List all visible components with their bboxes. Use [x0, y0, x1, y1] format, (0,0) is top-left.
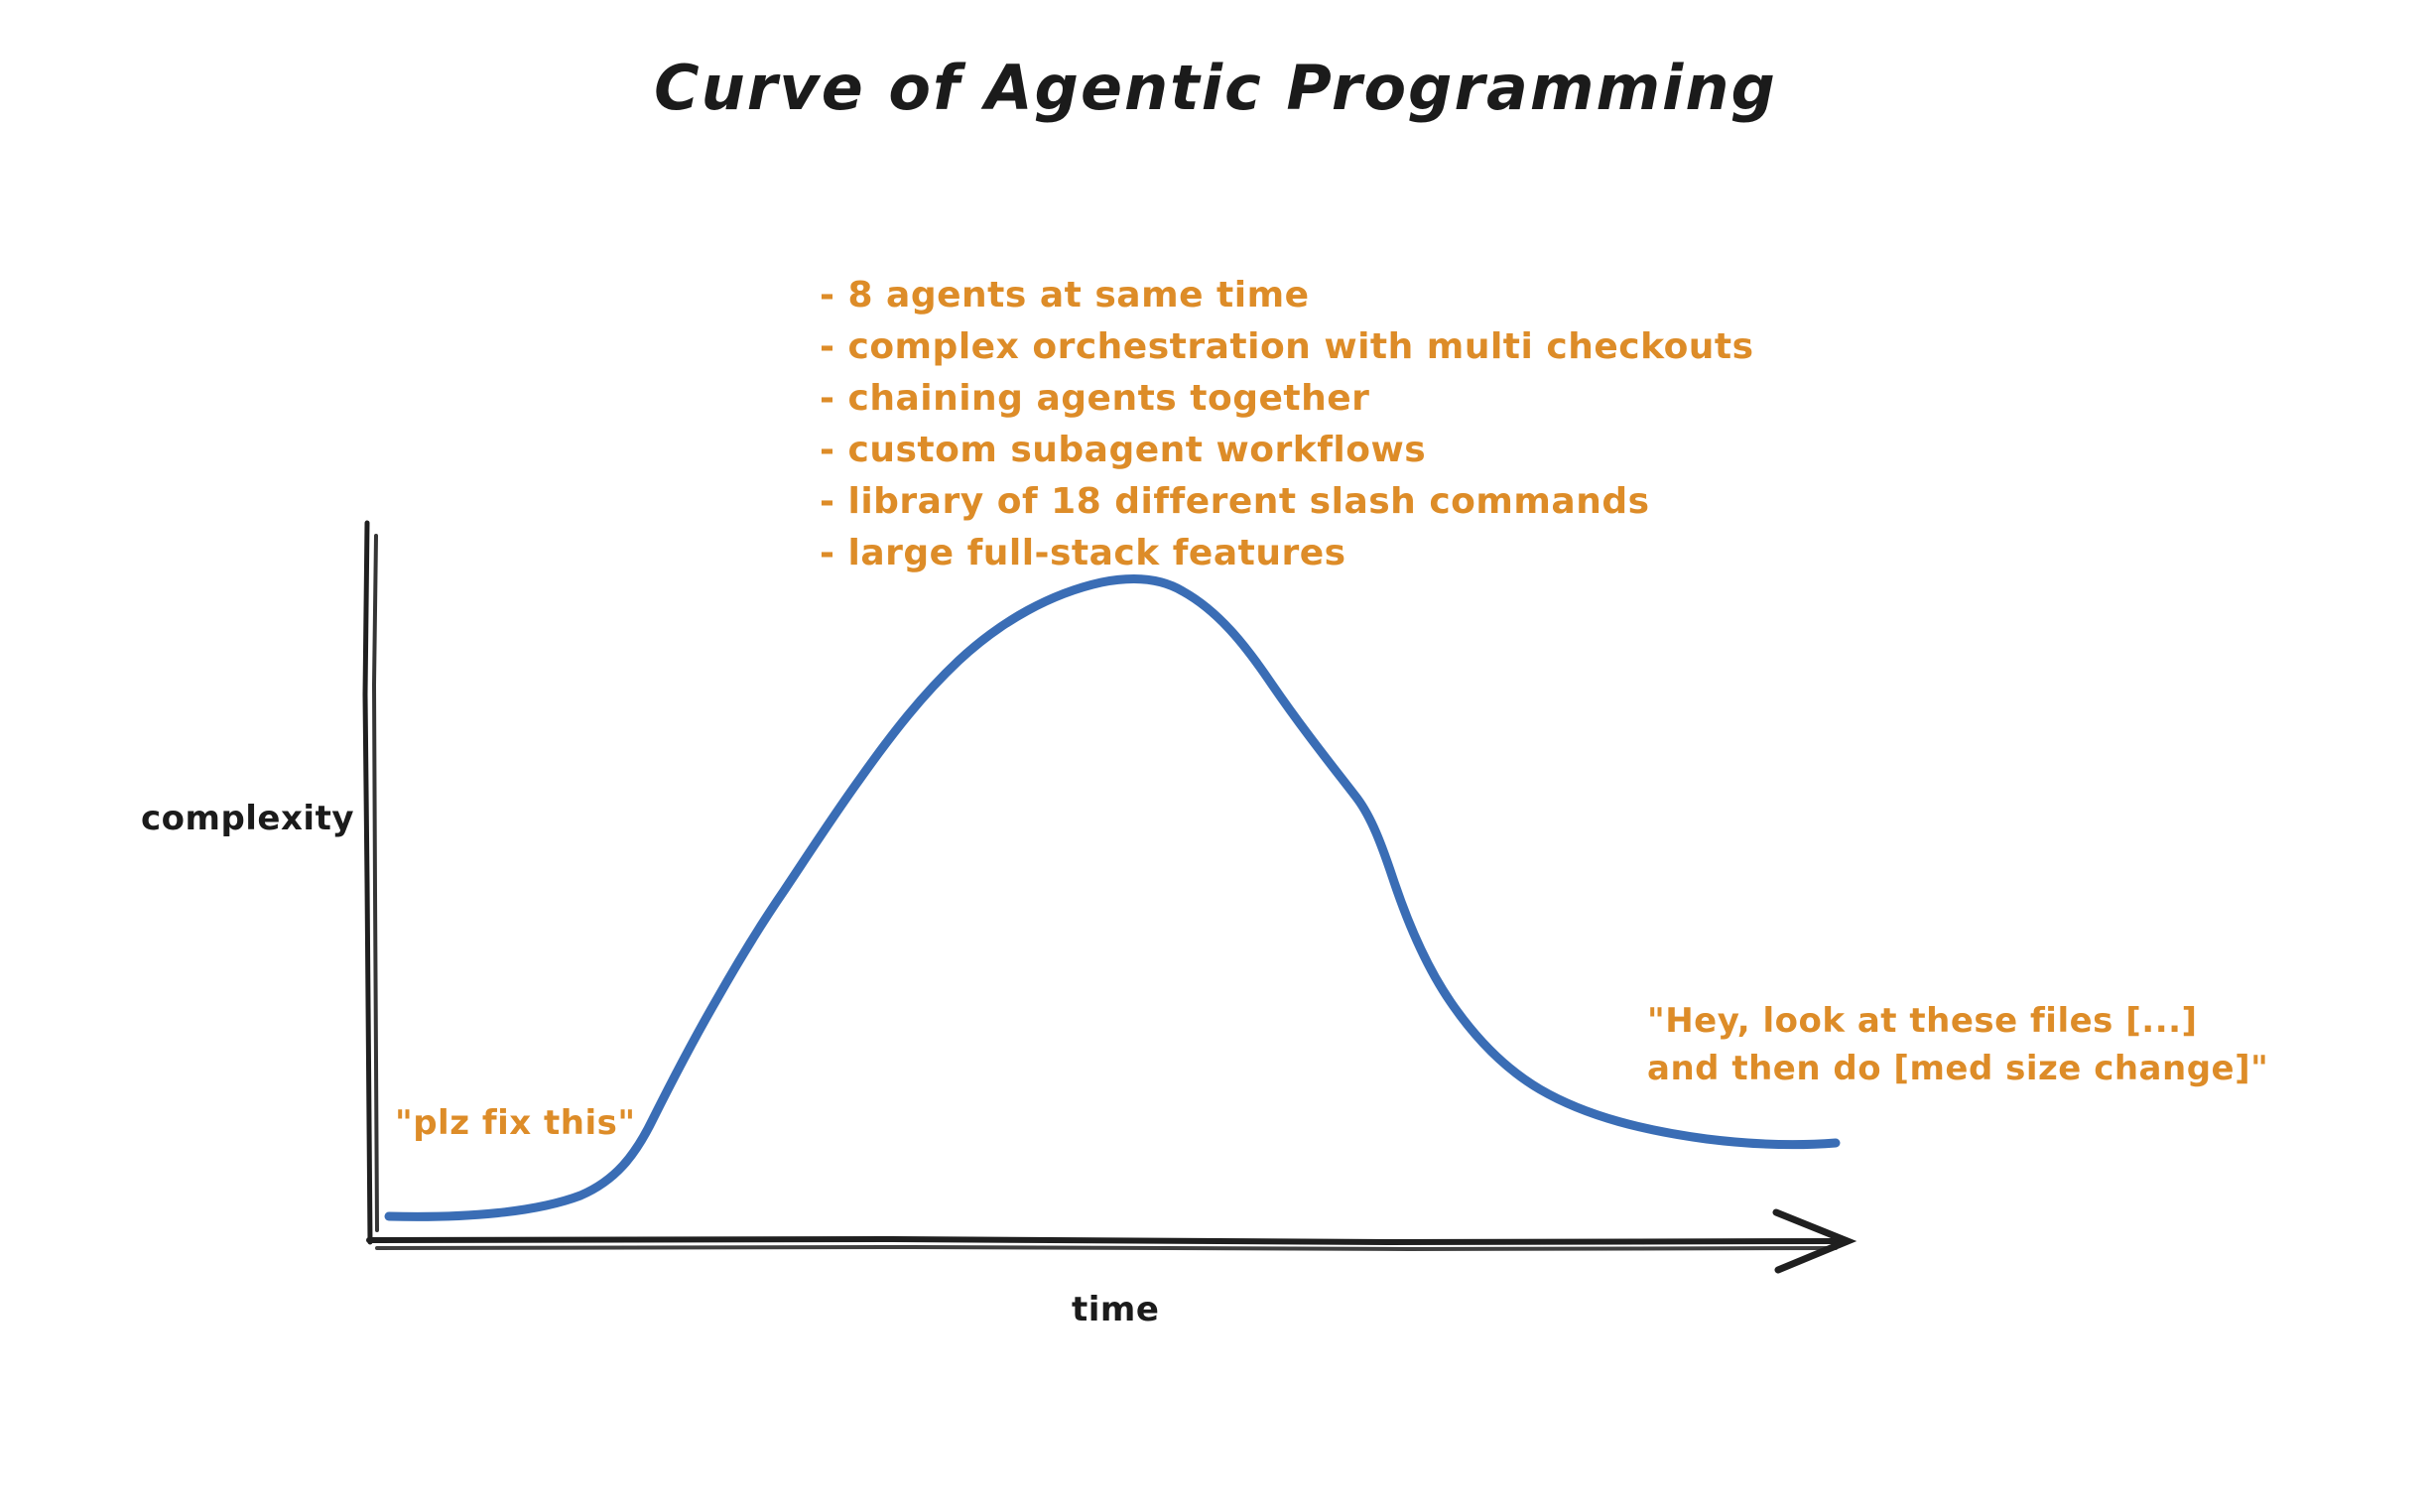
annotation-end-line-2: and then do [med size change]": [1647, 1045, 2268, 1092]
annotation-bullet-list: - 8 agents at same time - complex orches…: [820, 270, 1754, 579]
bullet-item: - custom subagent workflows: [820, 425, 1754, 476]
x-axis-label: time: [1072, 1290, 1159, 1329]
y-axis-label: complexity: [141, 799, 354, 838]
bullet-item: - complex orchestration with multi check…: [820, 321, 1754, 373]
bullet-item: - chaining agents together: [820, 373, 1754, 425]
annotation-start-quote: "plz fix this": [395, 1103, 636, 1143]
x-axis: [369, 1212, 1848, 1270]
plot-area: [0, 0, 2431, 1512]
bullet-item: - large full-stack features: [820, 528, 1754, 579]
bullet-item: - 8 agents at same time: [820, 270, 1754, 321]
annotation-end-line-1: "Hey, look at these files [...]: [1647, 997, 2268, 1045]
bullet-item: - library of 18 different slash commands: [820, 476, 1754, 528]
annotation-end-quote: "Hey, look at these files [...] and then…: [1647, 997, 2268, 1092]
chart-canvas: Curve of Agentic Programming - 8 agents …: [0, 0, 2431, 1512]
y-axis: [365, 523, 377, 1242]
